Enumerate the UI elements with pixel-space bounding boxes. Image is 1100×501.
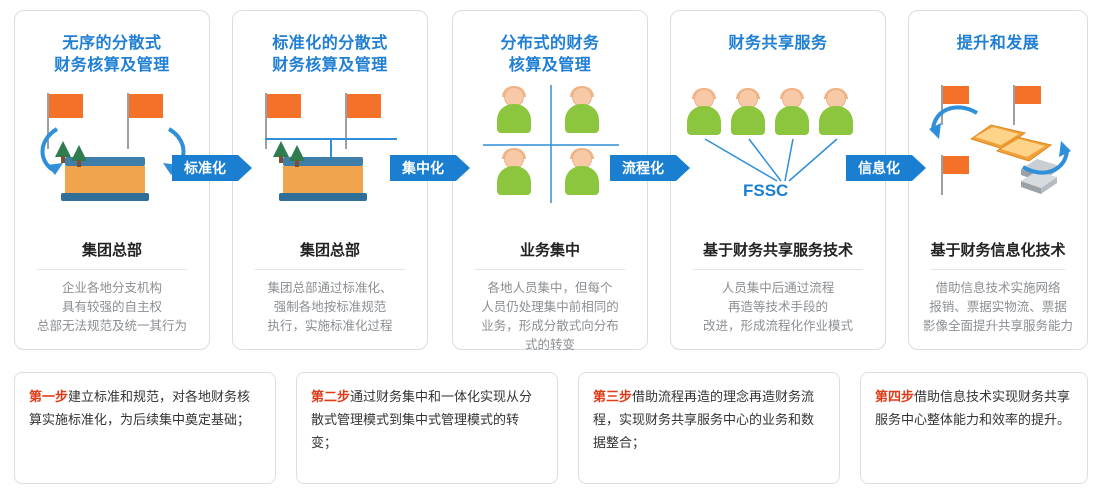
arrow-label: 集中化 [390,155,456,181]
note-card-3[interactable]: 第三步借助流程再造的理念再造财务流程，实现财务共享服务中心的业务和数据整合； [578,372,840,484]
person-icon [565,149,599,195]
tree-icon [273,141,289,163]
stage-2-title: 标准化的分散式 财务核算及管理 [233,33,427,77]
stage-1-description: 企业各地分支机构 具有较强的自主权 总部无法规范及统一其行为 [29,279,195,336]
circular-arrows-icon [919,95,1079,195]
person-icon [687,89,721,135]
person-icon [775,89,809,135]
note-row: 第一步建立标准和规范，对各地财务核算实施标准化，为后续集中奠定基础； 第二步通过… [0,372,1100,497]
stage-2-subtitle: 集团总部 [233,239,427,260]
arrow-label: 流程化 [610,155,676,181]
note-3-step: 第三步 [593,389,632,404]
stage-5-artwork [909,81,1087,211]
stage-3-artwork [453,81,647,211]
stage-4-subtitle: 基于财务共享服务技术 [671,239,885,260]
stage-1-title: 无序的分散式 财务核算及管理 [15,33,209,77]
stage-3-title: 分布式的财务 核算及管理 [453,33,647,77]
stage-5-title: 提升和发展 [909,33,1087,55]
stage-4-title: 财务共享服务 [671,33,885,55]
stage-2-description: 集团总部通过标准化、 强制各地按标准规范 执行，实施标准化过程 [247,279,413,336]
arrow-label: 标准化 [172,155,238,181]
arrow-centralization: 集中化 [390,155,470,181]
stage-5-subtitle: 基于财务信息化技术 [909,239,1087,260]
divider [693,269,863,270]
note-4-step: 第四步 [875,389,914,404]
arrow-process: 流程化 [610,155,690,181]
note-card-1[interactable]: 第一步建立标准和规范，对各地财务核算实施标准化，为后续集中奠定基础； [14,372,276,484]
arrow-label: 信息化 [846,155,912,181]
stage-1-artwork [15,81,209,211]
stage-card-5[interactable]: 提升和发展 [908,10,1088,350]
fssc-label: FSSC [743,181,788,201]
note-card-2[interactable]: 第二步通过财务集中和一体化实现从分散式管理模式到集中式管理模式的转变； [296,372,558,484]
arrow-informatization: 信息化 [846,155,926,181]
divider [931,269,1065,270]
person-icon [731,89,765,135]
stage-row: 无序的分散式 财务核算及管理 [0,0,1100,360]
stage-4-artwork: FSSC [671,81,885,211]
arrow-standardization: 标准化 [172,155,252,181]
tree-icon [71,145,87,167]
person-icon [565,87,599,133]
tree-icon [55,141,71,163]
divider [475,269,625,270]
person-icon [497,87,531,133]
note-2-step: 第二步 [311,389,350,404]
stage-5-description: 借助信息技术实施网络 报销、票据实物流、票据 影像全面提升共享服务能力 [923,279,1073,336]
stage-3-description: 各地人员集中，但每个 人员仍处理集中前相同的 业务，形成分散式向分布 式的转变 [467,279,633,355]
divider [37,269,187,270]
stage-2-artwork [233,81,427,211]
note-card-4[interactable]: 第四步借助信息技术实现财务共享服务中心整体能力和效率的提升。 [860,372,1088,484]
note-1-step: 第一步 [29,389,68,404]
divider [255,269,405,270]
tree-icon [289,145,305,167]
stage-1-subtitle: 集团总部 [15,239,209,260]
stage-3-subtitle: 业务集中 [453,239,647,260]
person-icon [497,149,531,195]
stage-4-description: 人员集中后通过流程 再造等技术手段的 改进，形成流程化作业模式 [685,279,871,336]
person-icon [819,89,853,135]
